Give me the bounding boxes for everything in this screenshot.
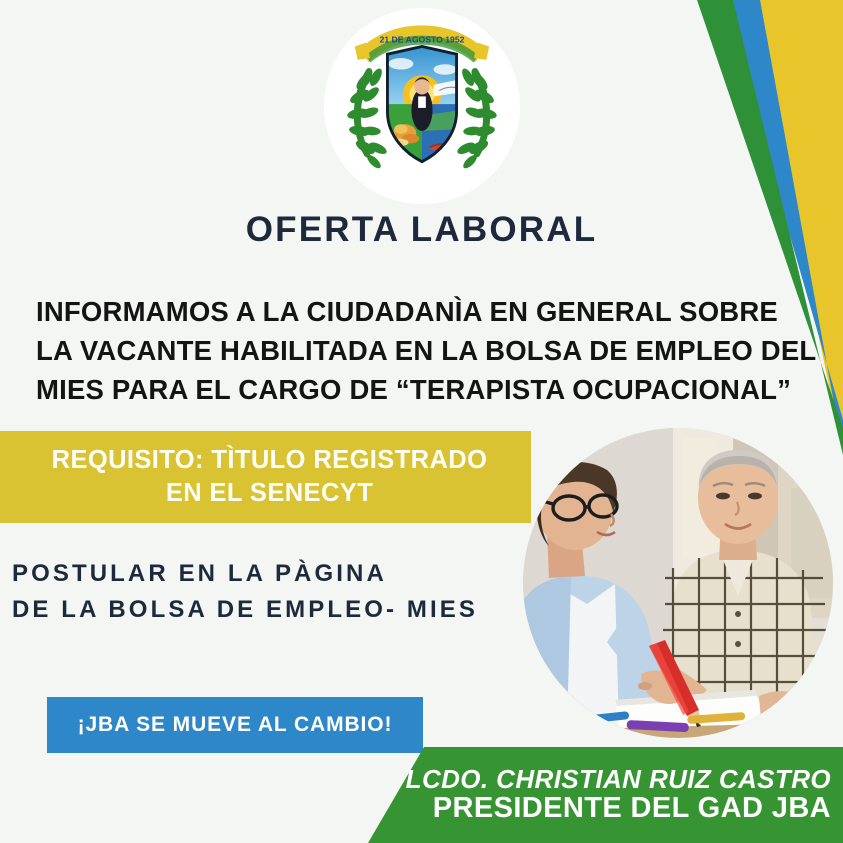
requirement-banner: REQUISITO: TÌTULO REGISTRADO EN EL SENEC…	[0, 431, 531, 523]
shield-field	[383, 43, 462, 166]
coat-of-arms: 21 DE AGOSTO 1952	[324, 8, 520, 204]
announcement-line-3: MIES PARA EL CARGO DE “TERAPISTA OCUPACI…	[36, 370, 778, 409]
apply-line-2: DE LA BOLSA DE EMPLEO- MIES	[12, 592, 478, 628]
announcement-line-1: INFORMAMOS A LA CIUDADANÌA EN GENERAL SO…	[36, 292, 778, 331]
requirement-text: REQUISITO: TÌTULO REGISTRADO EN EL SENEC…	[32, 444, 507, 509]
page-title: OFERTA LABORAL	[0, 210, 843, 250]
apply-instructions: POSTULAR EN LA PÀGINA DE LA BOLSA DE EMP…	[12, 556, 478, 629]
slogan-button-label: ¡JBA SE MUEVE AL CAMBIO!	[78, 713, 393, 737]
laurel-right	[455, 67, 497, 171]
crest-container: 21 DE AGOSTO 1952	[0, 8, 843, 204]
announcement-line-2: LA VACANTE HABILITADA EN LA BOLSA DE EMP…	[36, 331, 778, 370]
crest-ribbon-text: 21 DE AGOSTO 1952	[379, 35, 464, 45]
footer-president-role: PRESIDENTE DEL GAD JBA	[406, 793, 831, 823]
footer-president-name: LCDO. CHRISTIAN RUIZ CASTRO	[406, 766, 831, 793]
apply-line-1: POSTULAR EN LA PÀGINA	[12, 556, 478, 592]
laurel-left	[346, 67, 388, 171]
slogan-button[interactable]: ¡JBA SE MUEVE AL CAMBIO!	[47, 697, 423, 753]
footer-signature: LCDO. CHRISTIAN RUIZ CASTRO PRESIDENTE D…	[406, 766, 831, 823]
announcement-body: INFORMAMOS A LA CIUDADANÌA EN GENERAL SO…	[36, 292, 778, 409]
poster-canvas: 21 DE AGOSTO 1952	[0, 0, 843, 843]
occupational-therapy-photo	[523, 428, 833, 738]
